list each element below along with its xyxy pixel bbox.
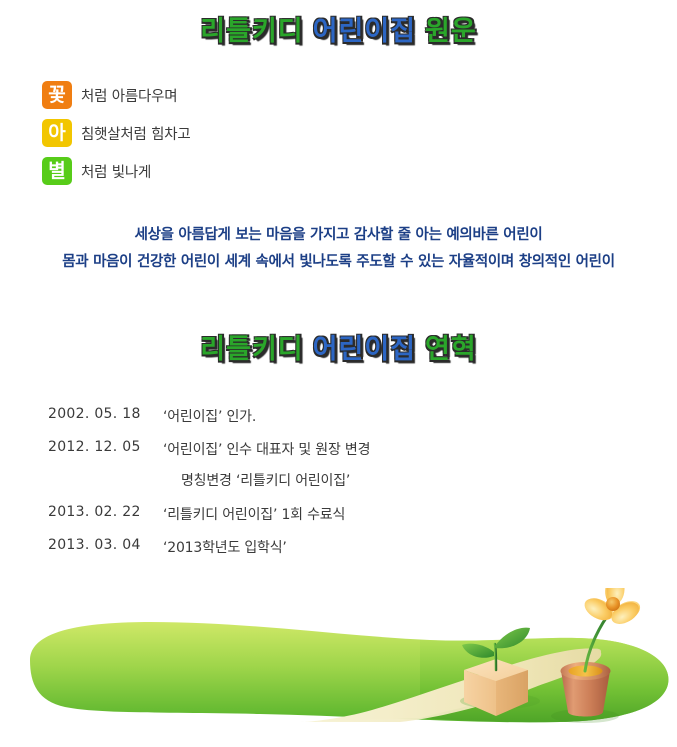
flower-petal bbox=[581, 594, 616, 625]
flower-head bbox=[581, 588, 644, 628]
history-heading: 리틀키디어린이집연혁 bbox=[0, 336, 677, 363]
pot-body bbox=[561, 671, 610, 717]
motto-badge-list: 꽃 처럼 아름다우며 아 침햇살처럼 힘차고 별 처럼 빛나게 bbox=[42, 76, 442, 190]
motto-badge-row: 꽃 처럼 아름다우며 bbox=[42, 76, 442, 114]
badge-text-star: 처럼 빛나게 bbox=[81, 161, 151, 182]
sprout-stem bbox=[495, 644, 496, 670]
sprout-cube bbox=[460, 628, 540, 716]
motto-heading: 리틀키디어린이집원운 bbox=[0, 18, 677, 45]
history-heading-segment-3: 연혁 bbox=[425, 336, 477, 363]
badge-text-flower: 처럼 아름다우며 bbox=[81, 85, 177, 106]
history-description: ‘어린이집’ 인수 대표자 및 원장 변경 bbox=[163, 439, 370, 459]
cube-right-face bbox=[496, 670, 528, 716]
motto-statement-line-1: 세상을 아름답게 보는 마음을 가지고 감사할 줄 아는 예의바른 어린이 bbox=[0, 222, 677, 249]
hill-path bbox=[300, 648, 601, 722]
cube-shadow bbox=[460, 693, 540, 709]
history-date: 2013. 02. 22 bbox=[48, 504, 163, 520]
history-description: ‘어린이집’ 인가. bbox=[163, 406, 256, 426]
flower-petal bbox=[606, 588, 625, 604]
motto-heading-segment-1: 리틀키디 bbox=[200, 18, 303, 45]
cube-left-face bbox=[464, 670, 496, 716]
badge-chip-flower: 꽃 bbox=[42, 81, 72, 109]
motto-statement-line-2: 몸과 마음이 건강한 어린이 세계 속에서 빛나도록 주도할 수 있는 자율적이… bbox=[0, 249, 677, 276]
history-heading-segment-1: 리틀키디 bbox=[200, 336, 303, 363]
flower-stem bbox=[585, 611, 611, 671]
pot-soil bbox=[569, 666, 603, 677]
history-date: 2012. 12. 05 bbox=[48, 439, 163, 455]
motto-badge-row: 별 처럼 빛나게 bbox=[42, 152, 442, 190]
flower-pot bbox=[551, 611, 619, 723]
history-list: 2002. 05. 18 ‘어린이집’ 인가. 2012. 12. 05 ‘어린… bbox=[48, 406, 588, 570]
cube-top-face bbox=[464, 659, 528, 681]
sprout-leaf-right bbox=[495, 628, 530, 649]
flower-center bbox=[606, 597, 620, 611]
hill-path-highlight bbox=[300, 649, 601, 722]
history-date: 2002. 05. 18 bbox=[48, 406, 163, 422]
flower-petal bbox=[604, 588, 625, 606]
badge-text-child: 침햇살처럼 힘차고 bbox=[81, 123, 191, 144]
hill-shape bbox=[30, 622, 668, 722]
hill-shape-right bbox=[420, 638, 668, 722]
green-hill bbox=[30, 622, 668, 722]
badge-chip-child: 아 bbox=[42, 119, 72, 147]
sprout-leaf-left bbox=[462, 644, 494, 658]
pot-rim bbox=[561, 662, 611, 680]
flower-petal bbox=[609, 597, 644, 627]
history-description: ‘리틀키디 어린이집’ 1회 수료식 bbox=[163, 504, 345, 524]
history-row: 2012. 12. 05 ‘어린이집’ 인수 대표자 및 원장 변경 bbox=[48, 439, 588, 459]
history-row: 2002. 05. 18 ‘어린이집’ 인가. bbox=[48, 406, 588, 426]
motto-heading-segment-2: 어린이집 bbox=[313, 18, 416, 45]
history-description: ‘2013학년도 입학식’ bbox=[163, 537, 287, 557]
motto-heading-segment-3: 원운 bbox=[425, 18, 477, 45]
motto-badge-row: 아 침햇살처럼 힘차고 bbox=[42, 114, 442, 152]
history-row: 2013. 03. 04 ‘2013학년도 입학식’ bbox=[48, 537, 588, 557]
history-heading-segment-2: 어린이집 bbox=[313, 336, 416, 363]
badge-chip-star: 별 bbox=[42, 157, 72, 185]
pot-shadow bbox=[551, 709, 619, 723]
history-description: 명칭변경 ‘리틀키디 어린이집’ bbox=[163, 470, 350, 490]
flower-petal bbox=[608, 598, 643, 629]
flower-petal bbox=[582, 594, 617, 625]
history-row-continuation: 명칭변경 ‘리틀키디 어린이집’ bbox=[48, 470, 588, 490]
history-date: 2013. 03. 04 bbox=[48, 537, 163, 553]
bottom-illustration bbox=[0, 588, 677, 747]
history-row: 2013. 02. 22 ‘리틀키디 어린이집’ 1회 수료식 bbox=[48, 504, 588, 524]
motto-statement: 세상을 아름답게 보는 마음을 가지고 감사할 줄 아는 예의바른 어린이 몸과… bbox=[0, 222, 677, 276]
